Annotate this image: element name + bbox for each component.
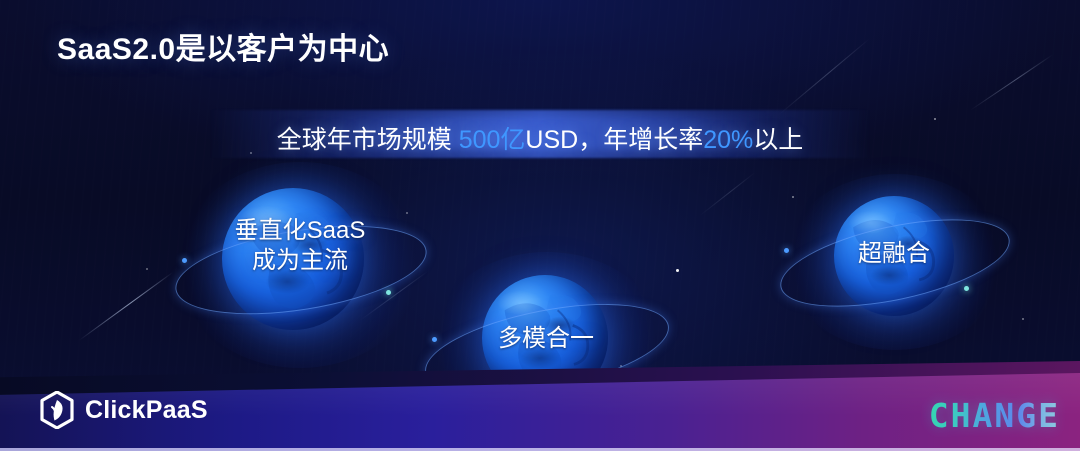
- clickpaas-logo-text: ClickPaaS: [85, 396, 208, 425]
- meteor-streak: [79, 272, 173, 341]
- hexagon-logo-icon: [40, 391, 74, 429]
- subtitle-amount-highlight: 500亿: [459, 126, 526, 154]
- globe-vertical-saas: 垂直化SaaS 成为主流: [180, 170, 420, 360]
- globe-label-line2: 成为主流: [180, 246, 420, 276]
- subtitle-rate-highlight: 20%: [703, 126, 753, 154]
- subtitle-tail: 以上: [753, 126, 803, 154]
- page-title: SaaS2.0是以客户为中心: [57, 24, 389, 68]
- globe-label-line1: 多模合一: [430, 324, 662, 354]
- globe-label-line1: 垂直化SaaS: [180, 216, 420, 246]
- globe-label: 超融合: [786, 239, 1002, 269]
- change-watermark: CHANGE: [929, 396, 1060, 435]
- globe-label: 多模合一: [430, 324, 662, 354]
- meteor-streak: [700, 172, 756, 216]
- globe-label-line1: 超融合: [786, 239, 1002, 269]
- subtitle-mid: USD，年增长率: [525, 126, 703, 154]
- star-dot: [146, 268, 148, 270]
- orbit-node-dot: [964, 286, 969, 291]
- globe-hyperconverged: 超融合: [786, 182, 1002, 340]
- orbit-node-dot: [386, 290, 391, 295]
- globe-label: 垂直化SaaS 成为主流: [180, 216, 420, 276]
- star-dot: [676, 269, 679, 272]
- star-dot: [1022, 318, 1024, 320]
- meteor-streak: [778, 38, 871, 116]
- clickpaas-logo[interactable]: ClickPaaS: [40, 391, 208, 429]
- presentation-slide: SaaS2.0是以客户为中心 全球年市场规模 500亿USD，年增长率20%以上…: [0, 0, 1080, 451]
- meteor-streak: [970, 54, 1053, 111]
- subtitle-lead: 全球年市场规模: [277, 126, 459, 154]
- subtitle: 全球年市场规模 500亿USD，年增长率20%以上: [0, 120, 1080, 156]
